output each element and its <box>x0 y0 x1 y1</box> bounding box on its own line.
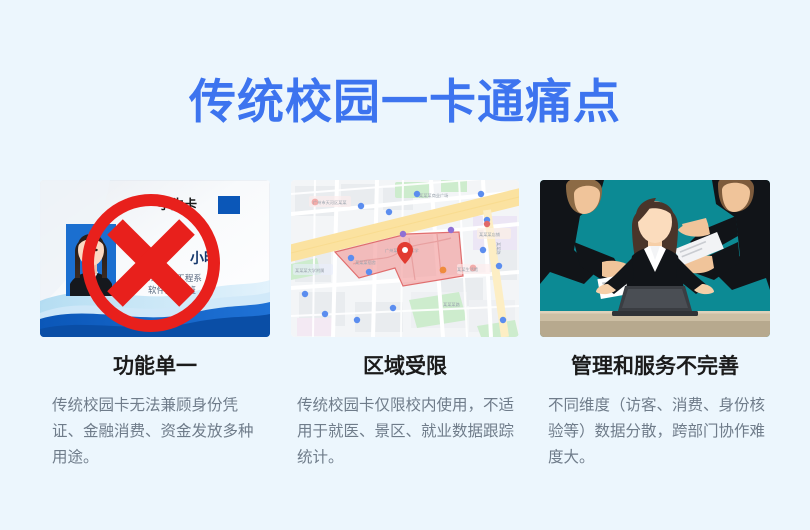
card-management-service: 管理和服务不完善 不同维度（访客、消费、身份核验等）数据分散，跨部门协作难度大。 <box>540 180 770 471</box>
slide-canvas: 传统校园一卡通痛点 <box>0 0 810 530</box>
map-with-highlighted-campus-area-image: 广州市天河区某某 某某某商业广场 某某生活馆 某某某大学附属 广州某某某某某学 … <box>291 180 519 337</box>
svg-text:广州市天河区某某: 广州市天河区某某 <box>313 199 347 206</box>
svg-text:某某某店铺: 某某某店铺 <box>479 231 500 238</box>
card-body: 传统校园卡仅限校内使用，不适用于就医、景区、就业数据跟踪统计。 <box>291 393 519 471</box>
page-title: 传统校园一卡通痛点 <box>0 76 810 128</box>
card-area-limited: 广州市天河区某某 某某某商业广场 某某生活馆 某某某大学附属 广州某某某某某学 … <box>291 180 519 471</box>
student-card-with-red-cross-image: 学生卡 <box>40 180 270 337</box>
card-heading: 功能单一 <box>40 354 270 380</box>
card-heading: 管理和服务不完善 <box>540 354 770 380</box>
card-heading: 区域受限 <box>291 354 519 380</box>
student-card-illustration: 学生卡 <box>40 180 270 337</box>
map-illustration: 广州市天河区某某 某某某商业广场 某某生活馆 某某某大学附属 广州某某某某某学 … <box>291 180 519 337</box>
card-body: 传统校园卡无法兼顾身份凭证、金融消费、资金发放多种用途。 <box>40 393 270 471</box>
cards-row: 学生卡 <box>40 180 770 471</box>
svg-text:某某某宿舍: 某某某宿舍 <box>355 259 377 266</box>
svg-text:某某某商业广场: 某某某商业广场 <box>419 192 448 199</box>
svg-text:某某某大学附属: 某某某大学附属 <box>295 267 324 274</box>
laptop <box>612 286 698 316</box>
svg-text:某某某路: 某某某路 <box>443 301 461 308</box>
svg-text:某某路: 某某路 <box>495 242 502 255</box>
card-body: 不同维度（访客、消费、身份核验等）数据分散，跨部门协作难度大。 <box>540 393 770 471</box>
overwhelmed-office-worker-image <box>540 180 770 337</box>
office-worker-illustration <box>540 180 770 337</box>
card-function-single: 学生卡 <box>40 180 270 471</box>
svg-text:某某生活馆: 某某生活馆 <box>457 266 478 273</box>
